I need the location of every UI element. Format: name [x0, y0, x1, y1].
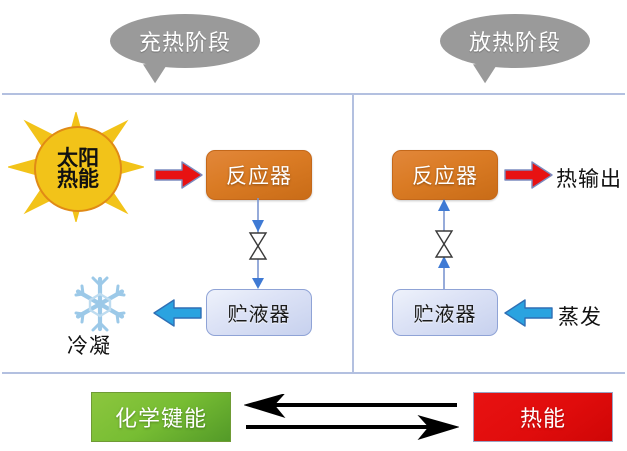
chemical-bond-energy-box: 化学键能 — [91, 392, 231, 442]
diagram-canvas: 充热阶段 放热阶段 太阳 热能 — [0, 0, 627, 451]
bubble-discharging-label: 放热阶段 — [469, 25, 561, 57]
chemical-bond-energy-label: 化学键能 — [115, 401, 207, 433]
right-reservoir-label: 贮液器 — [414, 298, 477, 327]
divider-bottom — [2, 372, 625, 374]
left-reservoir-box: 贮液器 — [206, 289, 312, 336]
divider-vertical — [352, 93, 354, 373]
heat-output-label: 热输出 — [556, 163, 622, 193]
red-right-arrow-icon — [154, 160, 204, 190]
right-reservoir-box: 贮液器 — [392, 289, 498, 336]
red-right-arrow-icon — [504, 160, 554, 190]
left-reactor-label: 反应器 — [226, 160, 292, 190]
thermal-energy-box: 热能 — [473, 392, 613, 442]
blue-left-arrow-icon — [152, 298, 202, 328]
right-reactor-label: 反应器 — [412, 160, 478, 190]
evaporation-label: 蒸发 — [558, 301, 602, 331]
right-valve-pipe — [424, 198, 464, 290]
sun-icon: 太阳 热能 — [8, 112, 144, 222]
divider-top — [2, 93, 625, 95]
left-valve-pipe — [238, 198, 278, 290]
condensation-label: 冷凝 — [67, 330, 111, 360]
left-reservoir-label: 贮液器 — [228, 298, 291, 327]
thermal-energy-label: 热能 — [520, 401, 566, 433]
bubble-charging-label: 充热阶段 — [139, 25, 231, 57]
sun-label-line1: 太阳 — [57, 148, 99, 169]
bubble-tail-icon — [473, 62, 501, 85]
valve-icon — [250, 233, 266, 259]
sun-disc: 太阳 热能 — [34, 126, 122, 212]
blue-left-arrow-icon — [503, 298, 553, 328]
sun-label-line2: 热能 — [57, 169, 99, 190]
bubble-discharging-stage: 放热阶段 — [440, 14, 590, 68]
right-reactor-box: 反应器 — [392, 150, 498, 200]
bubble-tail-icon — [143, 62, 171, 85]
left-reactor-box: 反应器 — [206, 150, 312, 200]
snowflake-icon — [72, 276, 128, 332]
bubble-charging-stage: 充热阶段 — [110, 14, 260, 68]
bidirectional-arrows — [244, 394, 459, 440]
valve-icon — [436, 231, 452, 257]
